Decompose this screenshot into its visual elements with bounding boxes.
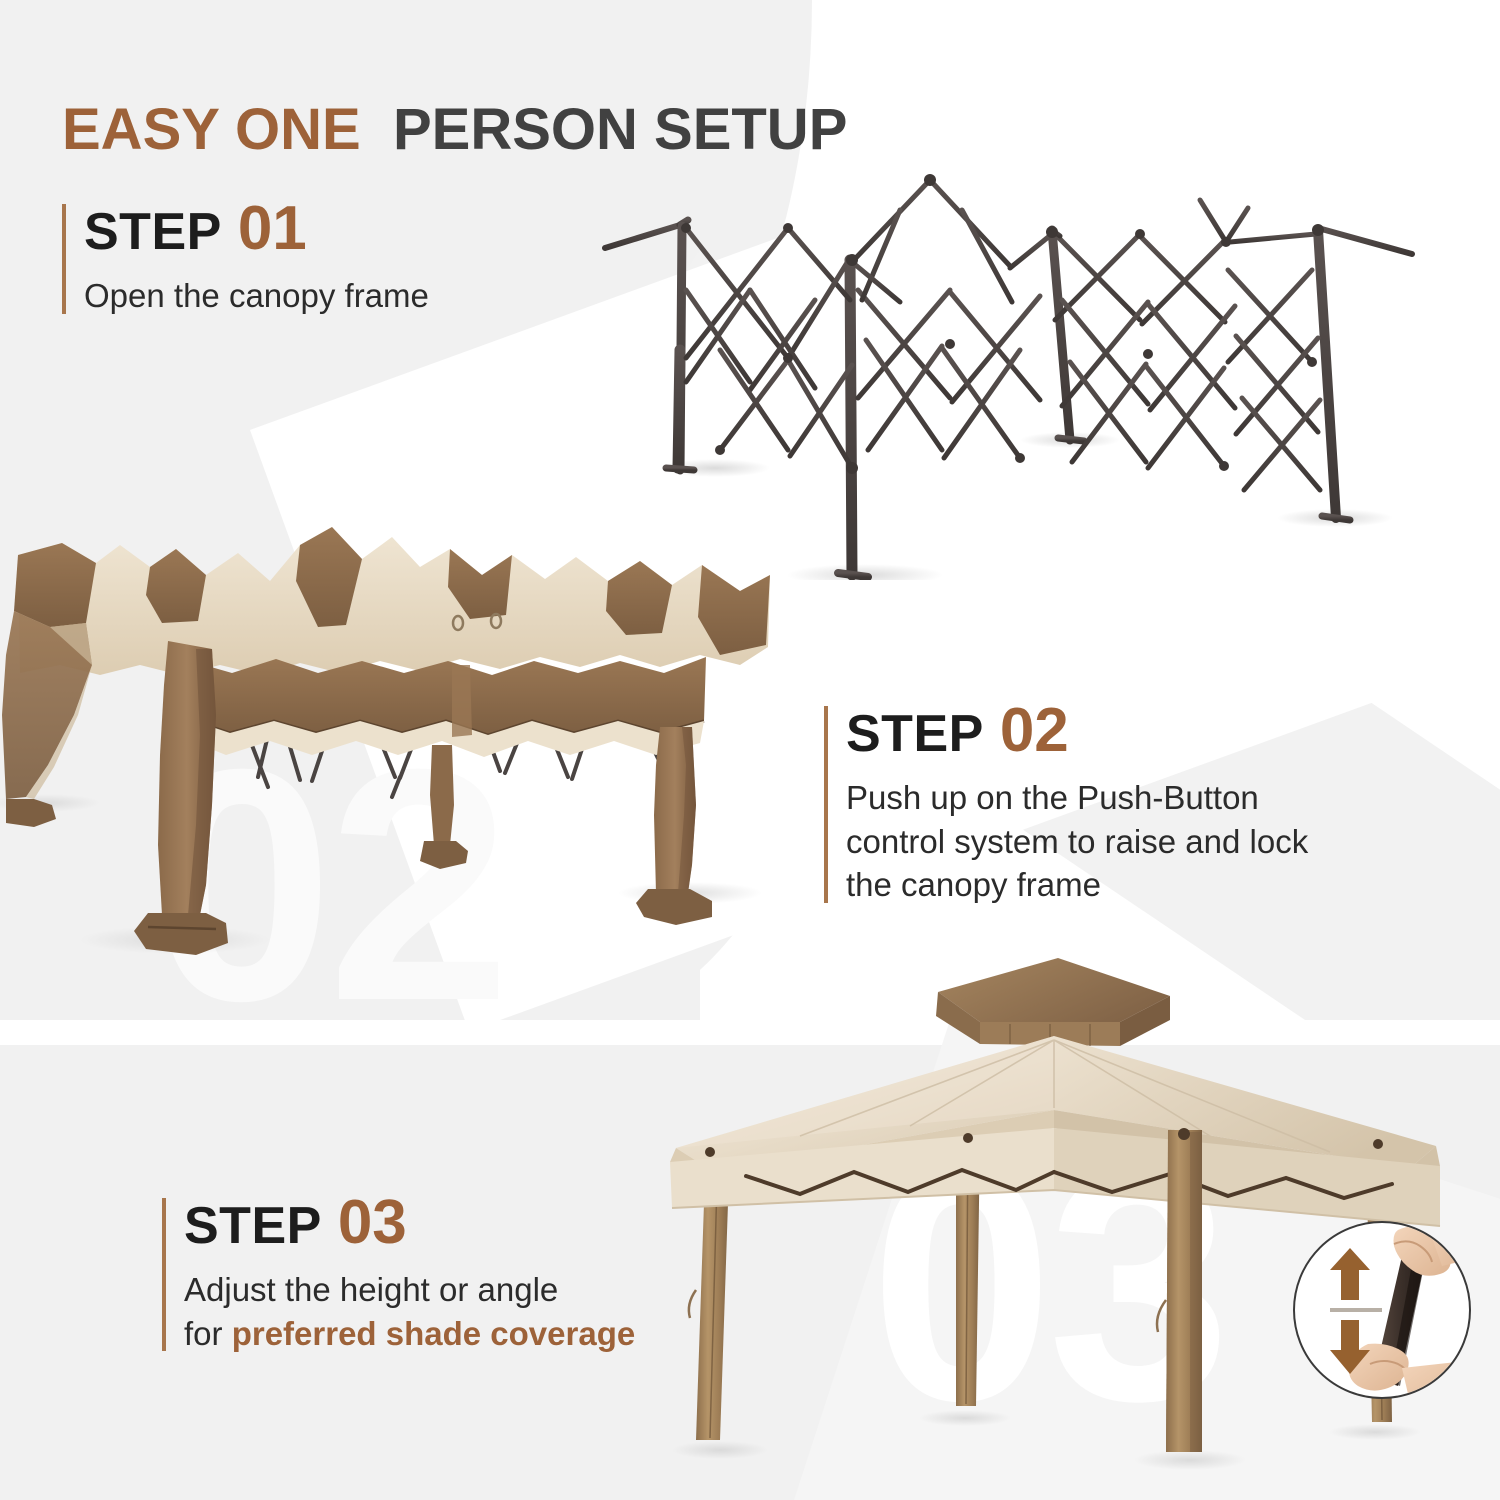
canopy-fabric-draped-photo [0,515,790,975]
page-title-rest: PERSON SETUP [393,97,847,162]
step-block-02: STEP02 Push up on the Push-Button contro… [824,700,1384,907]
step-block-03: STEP03 Adjust the height or angle for pr… [162,1192,682,1355]
height-adjust-hand-detail [1290,1218,1475,1403]
step-01-description: Open the canopy frame [84,274,532,318]
page-title-accent: EASY ONE [62,97,361,162]
step-02-number: 02 [1000,696,1069,765]
step-01-label: STEP [84,203,222,261]
step-03-description: Adjust the height or angle for preferred… [184,1268,682,1355]
step-01-heading: STEP01 [84,198,532,260]
infographic-canvas: 01 02 03 [0,0,1500,1500]
step-01-number: 01 [238,194,307,263]
step-02-line-3: the canopy frame [846,863,1384,907]
step-03-line-1: Adjust the height or angle [184,1268,682,1312]
step-02-description: Push up on the Push-Button control syste… [846,776,1384,907]
step-01-line-1: Open the canopy frame [84,277,429,314]
step-03-label: STEP [184,1197,322,1255]
step-03-line-2-emphasis: preferred shade coverage [232,1315,636,1352]
step-02-line-2: control system to raise and lock [846,820,1384,864]
step-03-line-2: for preferred shade coverage [184,1312,682,1356]
step-02-heading: STEP02 [846,700,1384,762]
page-title: EASY ONE PERSON SETUP [62,96,847,163]
step-02-line-1: Push up on the Push-Button [846,776,1384,820]
step-block-01: STEP01 Open the canopy frame [62,198,532,318]
step-02-label: STEP [846,705,984,763]
step-03-heading: STEP03 [184,1192,682,1254]
step-03-line-2-plain: for [184,1315,232,1352]
step-03-number: 03 [338,1188,407,1257]
